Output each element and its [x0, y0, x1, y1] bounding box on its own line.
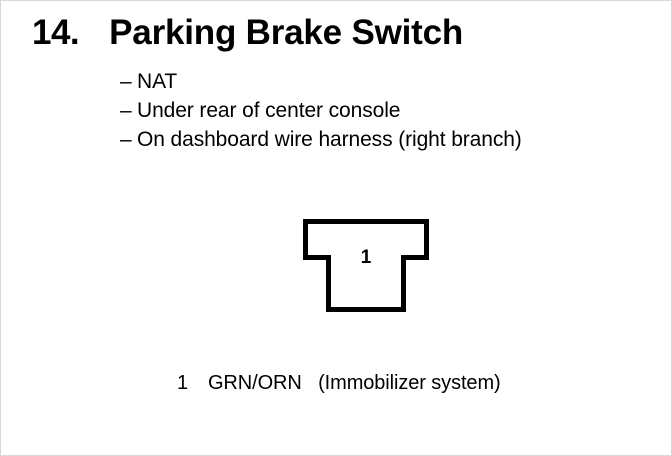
list-item-label: Under rear of center console	[137, 96, 400, 125]
heading-number: 14.	[32, 15, 79, 50]
legend-pin-number: 1	[177, 372, 188, 394]
list-item: – Under rear of center console	[120, 96, 522, 125]
dash-icon: –	[120, 67, 137, 96]
diagram-page: 14. Parking Brake Switch – NAT – Under r…	[0, 0, 672, 456]
connector-pin-1-label: 1	[355, 248, 377, 267]
list-item-label: NAT	[137, 67, 177, 96]
heading-title: Parking Brake Switch	[109, 15, 463, 50]
legend-wire-color: GRN/ORN	[208, 372, 302, 394]
page-title: 14. Parking Brake Switch	[32, 15, 463, 50]
legend-description: (Immobilizer system)	[318, 372, 500, 394]
wire-legend: 1 GRN/ORN (Immobilizer system)	[177, 371, 501, 395]
list-item: – NAT	[120, 67, 522, 96]
description-list: – NAT – Under rear of center console – O…	[120, 67, 522, 154]
list-item: – On dashboard wire harness (right branc…	[120, 125, 522, 154]
dash-icon: –	[120, 96, 137, 125]
connector-diagram: 1	[303, 216, 429, 312]
dash-icon: –	[120, 125, 137, 154]
list-item-label: On dashboard wire harness (right branch)	[137, 125, 522, 154]
